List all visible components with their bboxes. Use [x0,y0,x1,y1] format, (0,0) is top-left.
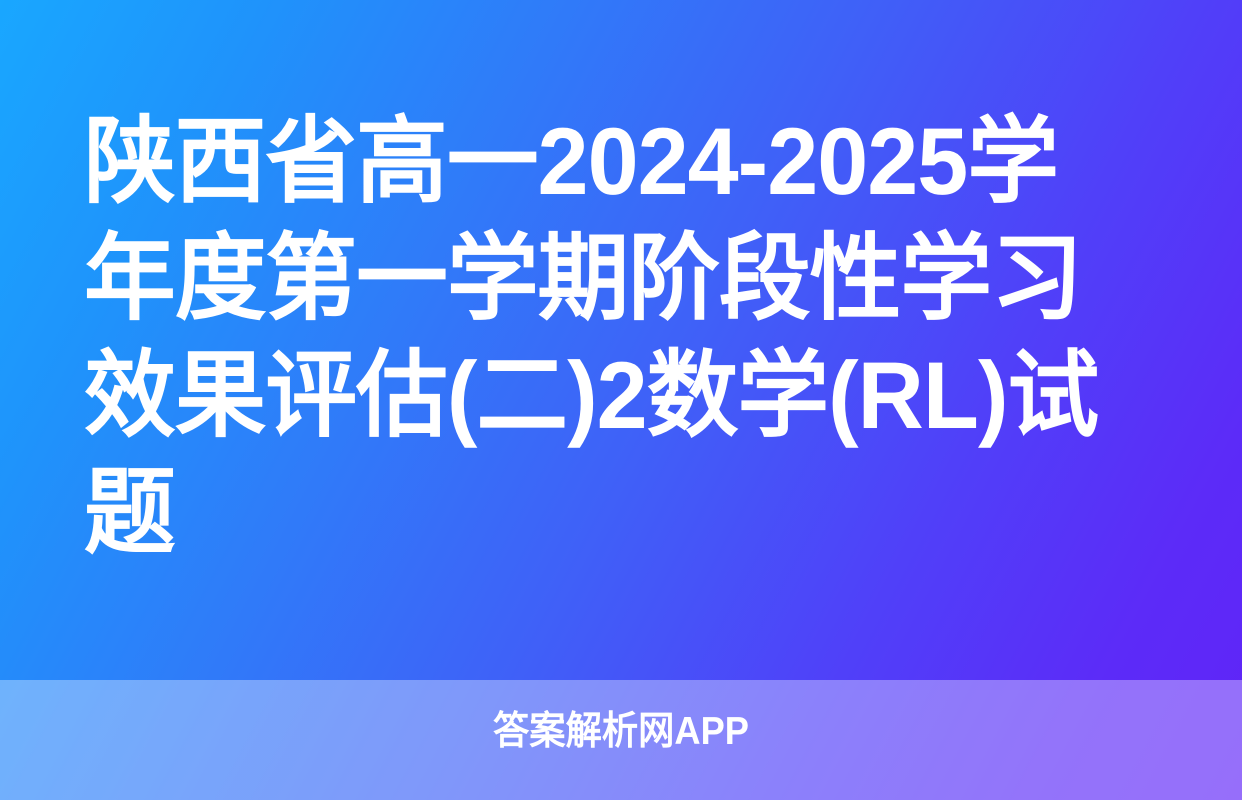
page-title-text: 陕西省高一2024-2025学年度第一学期阶段性学习效果评估(二)2数学(RL)… [84,104,1126,572]
page-title: 陕西省高一2024-2025学年度第一学期阶段性学习效果评估(二)2数学(RL)… [84,104,1126,572]
share-card: 陕西省高一2024-2025学年度第一学期阶段性学习效果评估(二)2数学(RL)… [0,0,1242,800]
watermark-brand-label: 答案解析网APP [43,706,1198,758]
